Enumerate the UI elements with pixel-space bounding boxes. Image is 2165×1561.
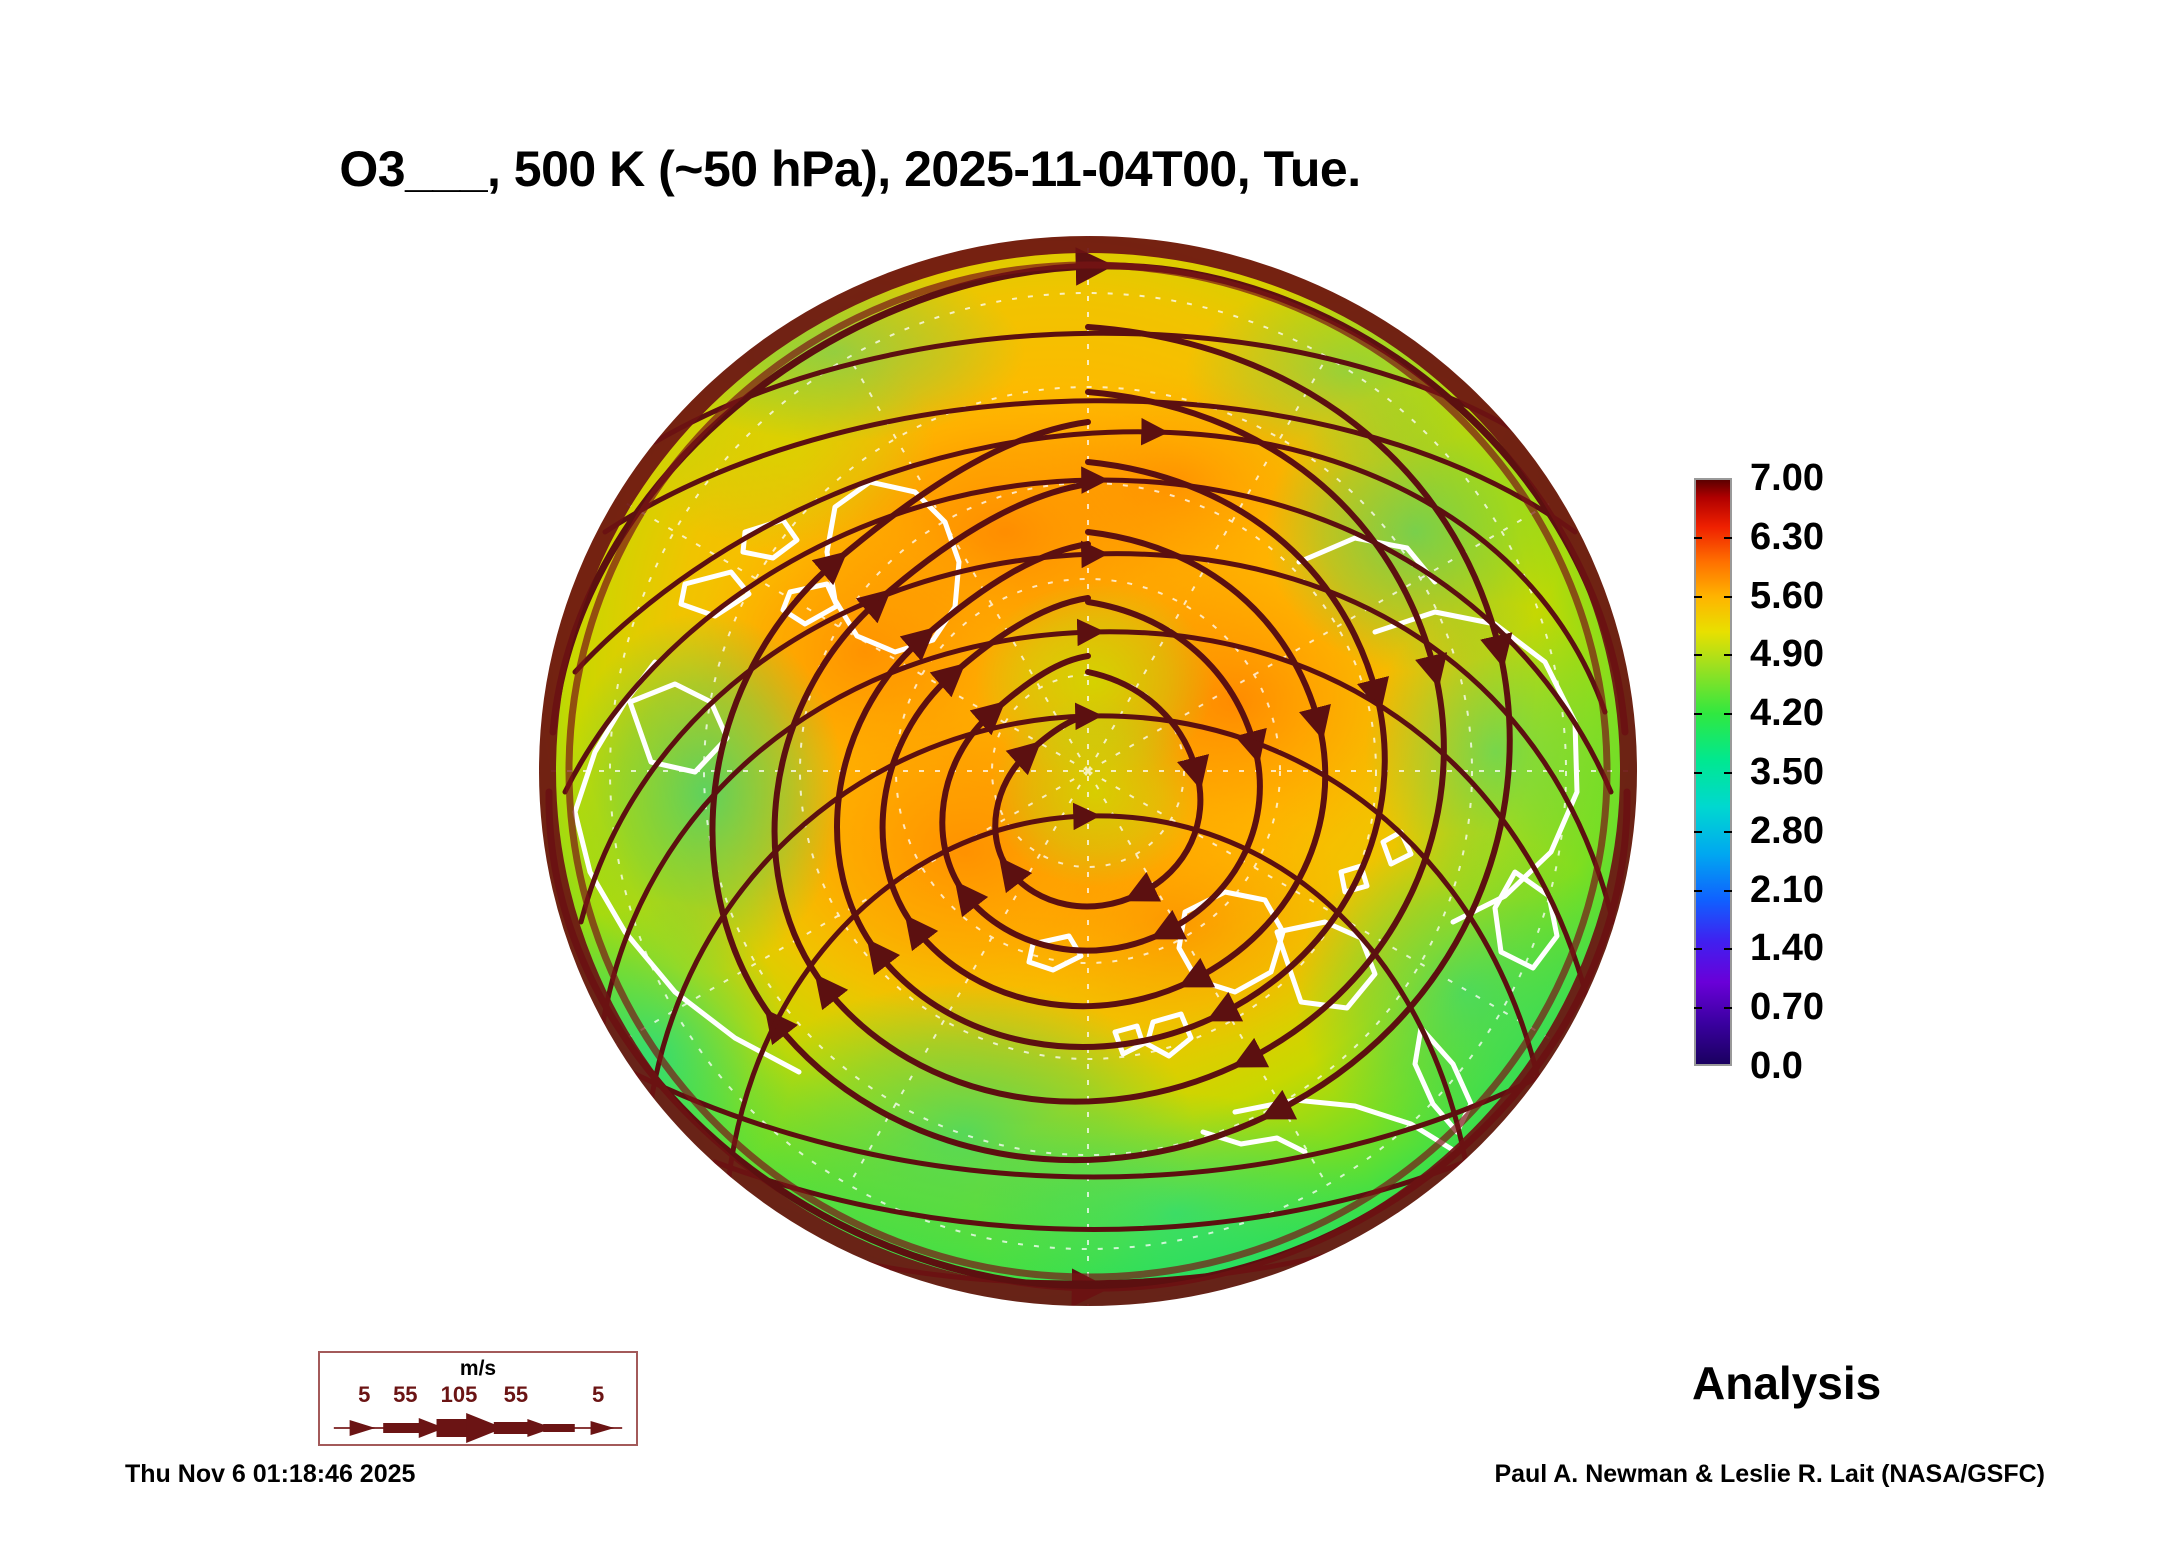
- colorbar-label: 2.10: [1750, 871, 1824, 909]
- wind-legend-value: 5: [592, 1382, 604, 1408]
- colorbar-label: 1.40: [1750, 929, 1824, 967]
- colorbar-gradient: [1694, 478, 1732, 1066]
- colorbar-labels: 7.006.305.604.904.203.502.802.101.400.70…: [1750, 478, 1970, 1066]
- colorbar-label: 4.90: [1750, 635, 1824, 673]
- wind-legend-arrow-icon: [320, 1411, 636, 1445]
- wind-legend-value: 5: [358, 1382, 370, 1408]
- colorbar-label: 0.70: [1750, 988, 1824, 1026]
- wind-legend-value: 55: [393, 1382, 417, 1408]
- analysis-label: Analysis: [1692, 1356, 1881, 1410]
- generation-timestamp: Thu Nov 6 01:18:46 2025: [125, 1460, 415, 1489]
- colorbar: 7.006.305.604.904.203.502.802.101.400.70…: [1694, 478, 2094, 1078]
- wind-speed-legend: m/s 555105555: [318, 1351, 638, 1446]
- polar-map: [535, 232, 1641, 1310]
- wind-legend-value: 55: [504, 1382, 528, 1408]
- author-credit: Paul A. Newman & Leslie R. Lait (NASA/GS…: [1494, 1460, 2045, 1489]
- page-title: O3___, 500 K (~50 hPa), 2025-11-04T00, T…: [0, 140, 1700, 198]
- polar-map-svg: [535, 232, 1641, 1310]
- map-field: [535, 232, 1641, 1310]
- colorbar-label: 6.30: [1750, 518, 1824, 556]
- colorbar-label: 2.80: [1750, 812, 1824, 850]
- colorbar-label: 5.60: [1750, 577, 1824, 615]
- colorbar-label: 3.50: [1750, 753, 1824, 791]
- colorbar-label: 0.0: [1750, 1047, 1803, 1085]
- colorbar-label: 7.00: [1750, 459, 1824, 497]
- colorbar-label: 4.20: [1750, 694, 1824, 732]
- wind-legend-unit-label: m/s: [320, 1357, 636, 1381]
- wind-legend-value: 105: [441, 1382, 478, 1408]
